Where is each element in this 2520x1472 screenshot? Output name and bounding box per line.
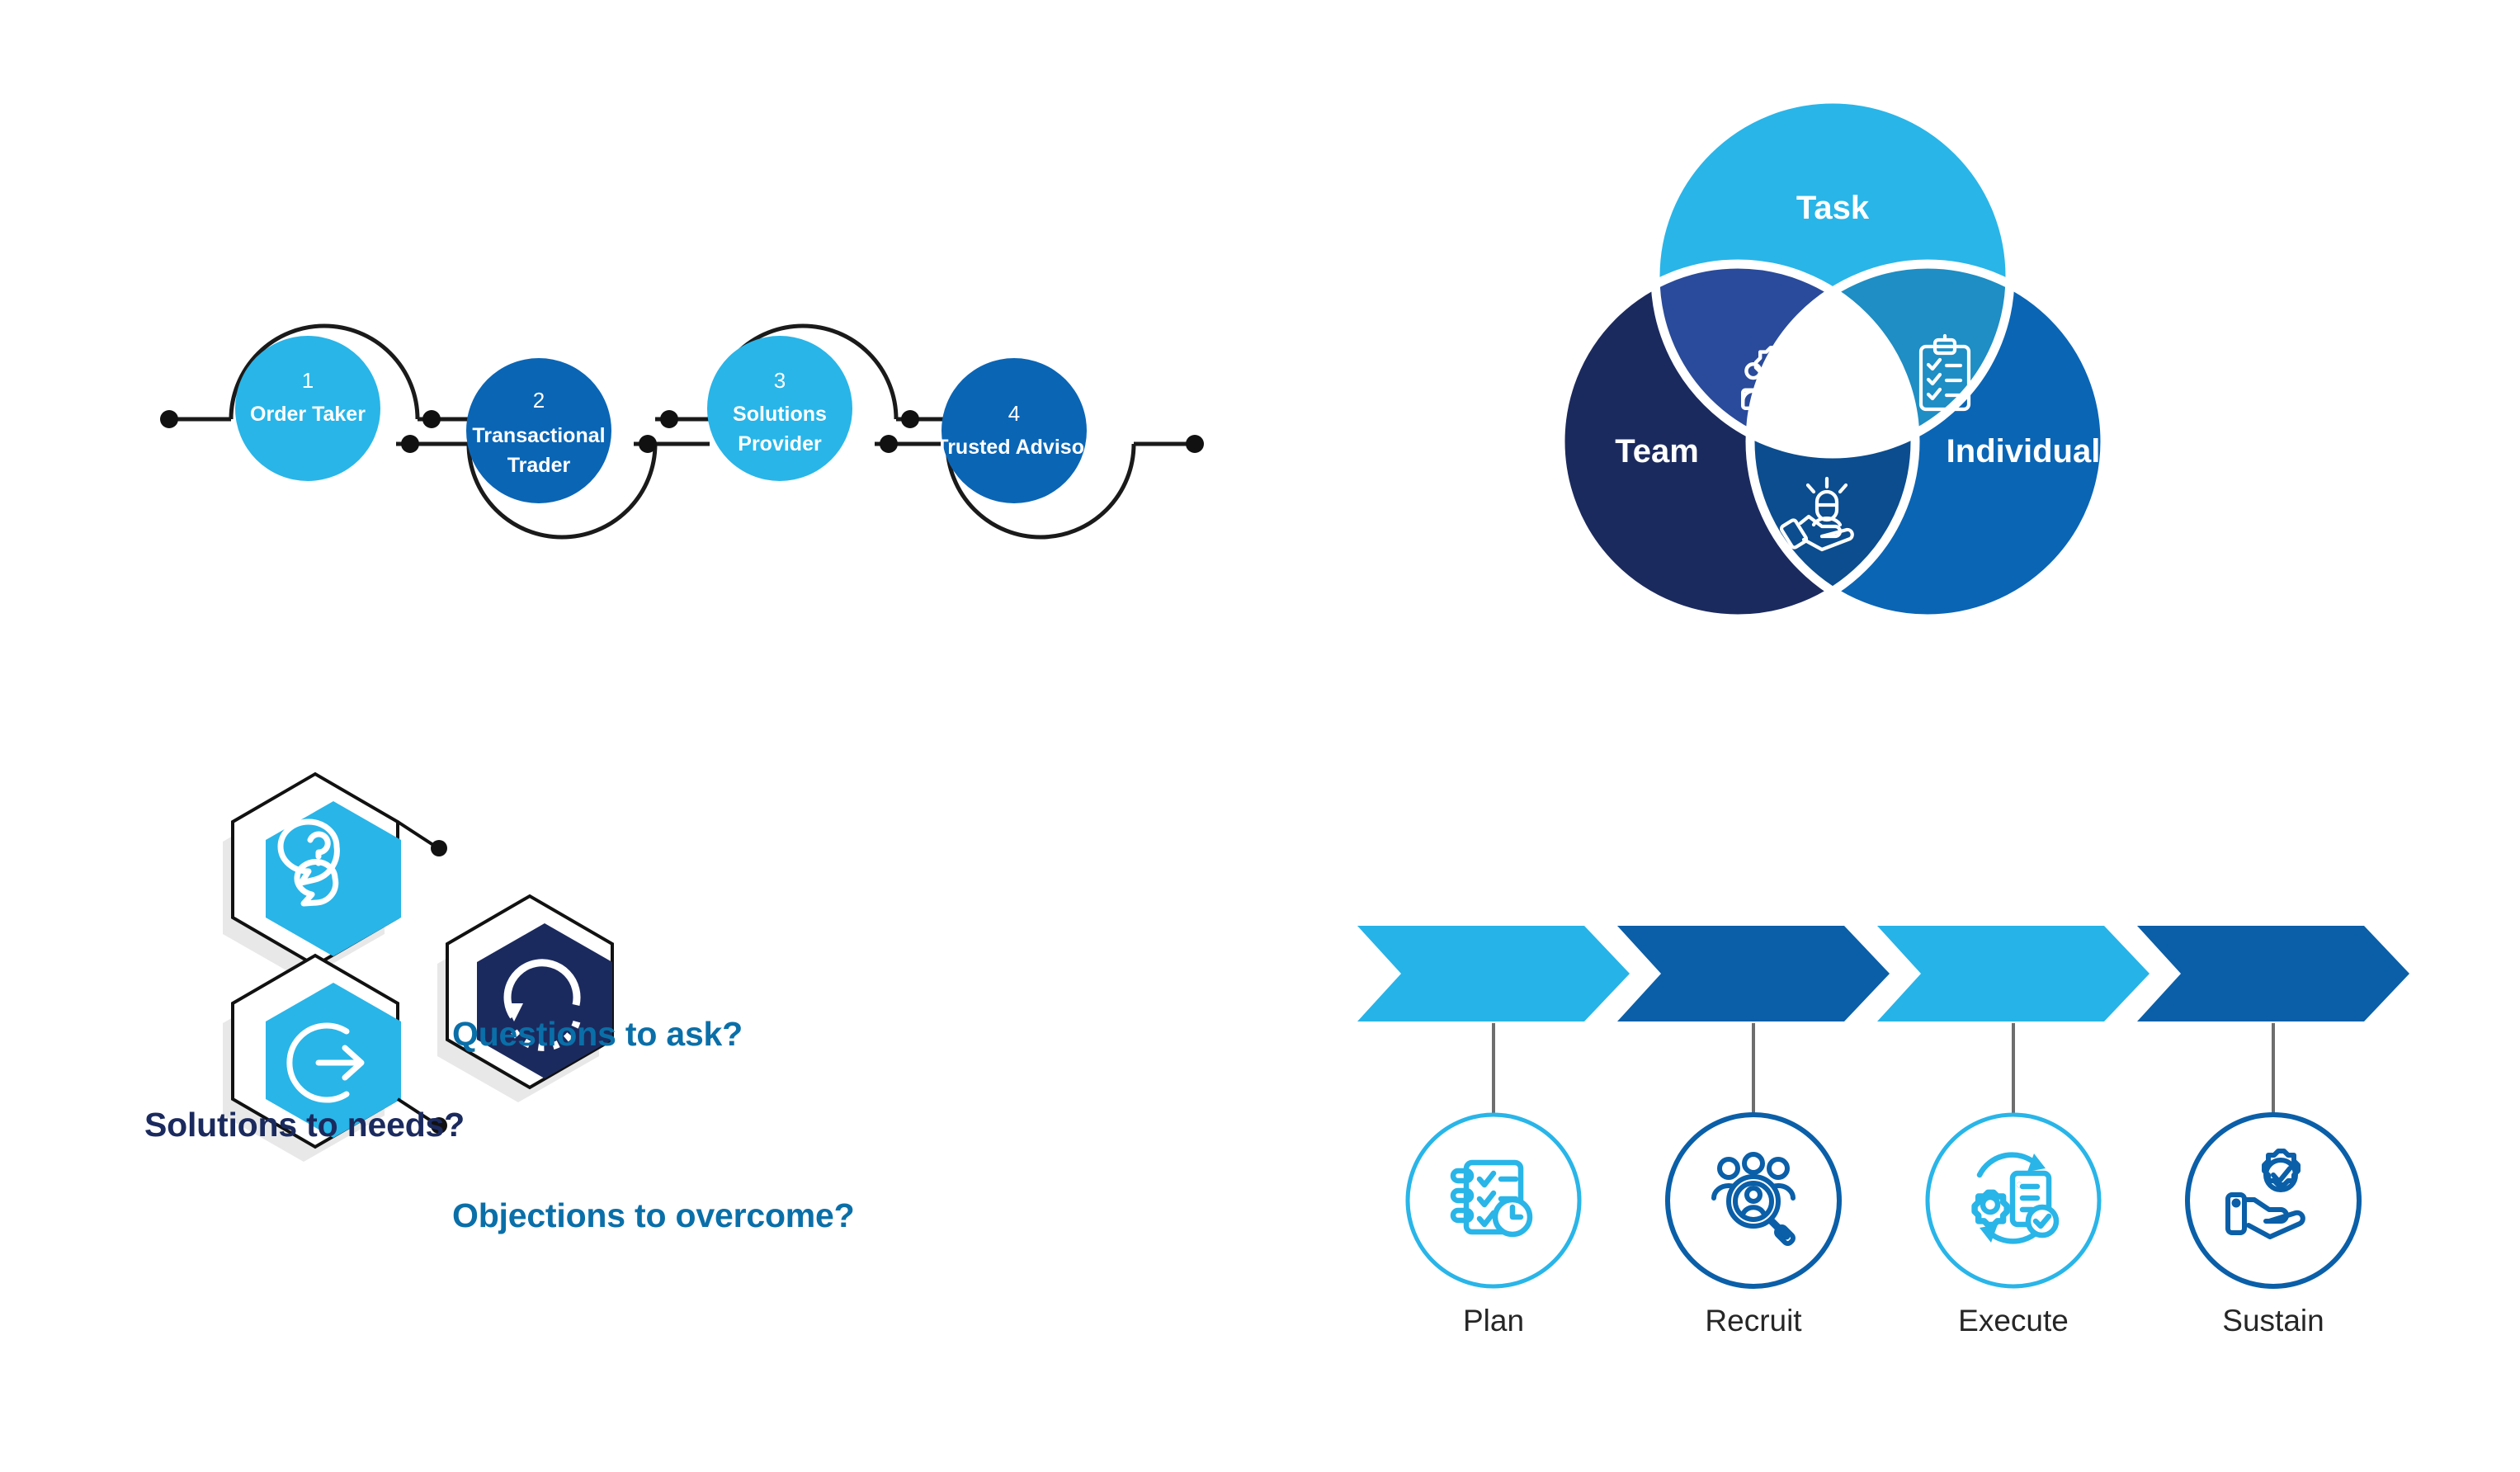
flow-step-2-label-line2: Trader xyxy=(507,454,571,477)
task-team-individual-venn: Task Team Individual xyxy=(1551,99,2376,743)
chevron-banner-execute[interactable] xyxy=(1877,926,2150,1021)
flow-step-4-label: Trusted Advisor xyxy=(936,436,1092,459)
hand-gear-check-icon xyxy=(2228,1151,2303,1237)
hexagon-questions-leader-dot xyxy=(431,840,447,856)
people-search-icon xyxy=(1714,1154,1795,1245)
chevron-banner-plan[interactable] xyxy=(1357,926,1630,1021)
venn-label-team: Team xyxy=(1615,433,1699,469)
chevron-ring-plan[interactable] xyxy=(1408,1115,1579,1286)
hexagon-label-objections: Objections to overcome? xyxy=(452,1196,855,1235)
flow-step-2-number: 2 xyxy=(533,388,545,413)
plan-recruit-execute-sustain: Plan Recruit Execute Sustain xyxy=(1345,908,2442,1370)
venn-label-task: Task xyxy=(1796,190,1870,226)
gear-document-refresh-icon xyxy=(1975,1154,2056,1243)
flow-step-2-label: Transactional xyxy=(472,424,605,447)
sales-maturity-flow: 1 Order Taker 2 Transactional Trader 3 S… xyxy=(0,272,1221,553)
flow-step-2[interactable]: 2 Transactional Trader xyxy=(466,358,611,503)
flow-step-1[interactable]: 1 Order Taker xyxy=(235,336,380,481)
slide-canvas: 1 Order Taker 2 Transactional Trader 3 S… xyxy=(0,0,2520,1472)
discovery-hexagons: Questions to ask? Solutions to needs? Ob… xyxy=(248,743,1337,1419)
flow-step-3[interactable]: 3 Solutions Provider xyxy=(707,336,852,481)
flow-step-4[interactable]: 4 Trusted Advisor xyxy=(936,358,1092,503)
flow-step-3-label: Solutions xyxy=(733,403,827,426)
checklist-clock-icon xyxy=(1453,1163,1530,1234)
chevron-banner-recruit[interactable] xyxy=(1617,926,1890,1021)
flow-step-3-label-line2: Provider xyxy=(738,432,822,455)
chevron-label-sustain: Sustain xyxy=(2207,1304,2339,1338)
hexagon-label-solutions: Solutions to needs? xyxy=(144,1106,465,1144)
flow-step-1-label: Order Taker xyxy=(250,403,366,426)
chevron-ring-sustain[interactable] xyxy=(2187,1115,2359,1286)
hexagon-label-questions: Questions to ask? xyxy=(452,1015,743,1054)
chevron-label-execute: Execute xyxy=(1947,1304,2079,1338)
hexagon-questions-leader xyxy=(398,822,436,847)
flow-step-4-circle xyxy=(941,358,1087,503)
hexagon-questions[interactable] xyxy=(233,774,447,965)
flow-step-1-number: 1 xyxy=(302,368,314,393)
chevron-banner-sustain[interactable] xyxy=(2137,926,2409,1021)
flow-step-3-number: 3 xyxy=(774,368,786,393)
venn-label-individual: Individual xyxy=(1947,433,2101,469)
chevron-label-recruit: Recruit xyxy=(1687,1304,1819,1338)
chevron-label-plan: Plan xyxy=(1428,1304,1560,1338)
flow-step-4-number: 4 xyxy=(1008,401,1020,426)
